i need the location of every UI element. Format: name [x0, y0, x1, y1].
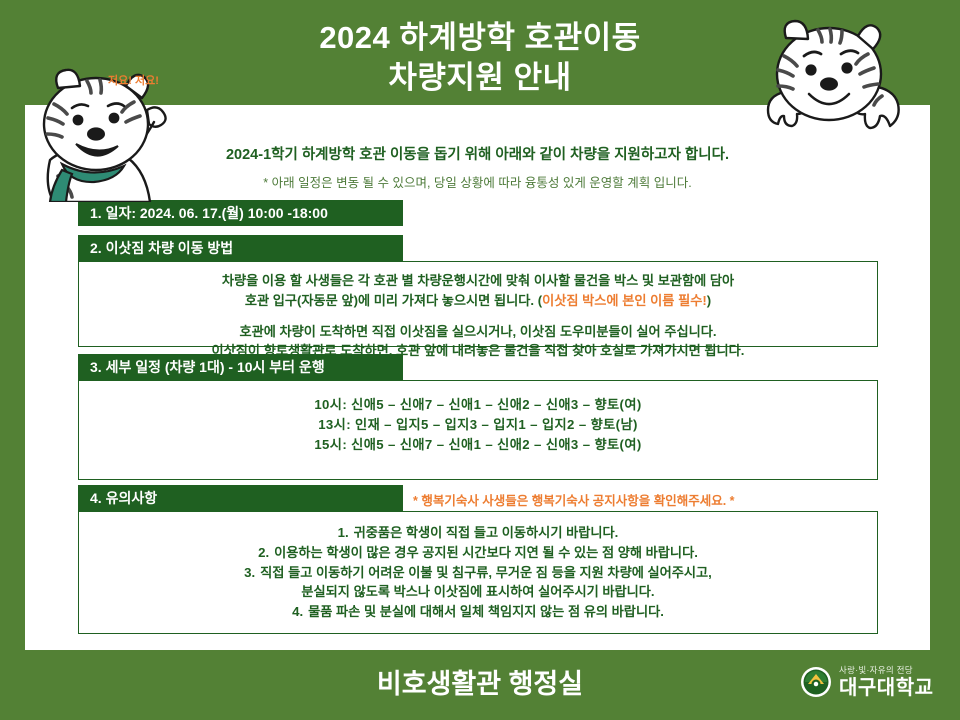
notice-item-4: 4.물품 파손 및 분실에 대해서 일체 책임지지 않는 점 유의 바랍니다.: [89, 602, 867, 622]
section-header-method: 2. 이삿짐 차량 이동 방법: [78, 235, 403, 261]
notice-item-2-number: 2.: [258, 545, 269, 560]
notice-item-1-text: 귀중품은 학생이 직접 들고 이동하시기 바랍니다.: [354, 525, 619, 540]
method-paragraph-2-line-1: 호관에 차량이 도착하면 직접 이삿짐을 실으시거나, 이삿짐 도우미분들이 실…: [89, 322, 867, 342]
section-body-notice: 1.귀중품은 학생이 직접 들고 이동하시기 바랍니다. 2.이용하는 학생이 …: [78, 511, 878, 634]
section-header-date: 1. 일자: 2024. 06. 17.(월) 10:00 -18:00: [78, 200, 403, 226]
notice-item-1-number: 1.: [338, 525, 349, 540]
section-header-notice: 4. 유의사항: [78, 485, 403, 511]
method-paragraph-gap: [89, 311, 867, 322]
intro-line-2: * 아래 일정은 변동 될 수 있으며, 당일 상황에 따라 융통성 있게 운영…: [25, 172, 930, 191]
university-name: 대구대학교: [839, 678, 934, 698]
schedule-route-1: 10시: 신애5 – 신애7 – 신애1 – 신애2 – 신애3 – 향토(여): [89, 395, 867, 415]
intro-line-1: 2024-1학기 하계방학 호관 이동을 돕기 위해 아래와 같이 차량을 지원…: [25, 143, 930, 164]
notice-item-3: 3.직접 들고 이동하기 어려운 이불 및 침구류, 무거운 짐 등을 지원 차…: [89, 563, 867, 583]
notice-item-3-subtext: 분실되지 않도록 박스나 이삿짐에 표시하여 실어주시기 바랍니다.: [89, 582, 867, 602]
notice-item-4-number: 4.: [292, 604, 303, 619]
notice-item-4-text: 물품 파손 및 분실에 대해서 일체 책임지지 않는 점 유의 바랍니다.: [308, 604, 664, 619]
section-body-method: 차량을 이용 할 사생들은 각 호관 별 차량운행시간에 맞춰 이사할 물건을 …: [78, 261, 878, 347]
method-paragraph-1-line-1: 차량을 이용 할 사생들은 각 호관 별 차량운행시간에 맞춰 이사할 물건을 …: [89, 271, 867, 291]
notice-item-3-text: 직접 들고 이동하기 어려운 이불 및 침구류, 무거운 짐 등을 지원 차량에…: [260, 565, 712, 580]
schedule-route-2: 13시: 인재 – 입지5 – 입지3 – 입지1 – 입지2 – 향토(남): [89, 415, 867, 435]
notice-item-2-text: 이용하는 학생이 많은 경우 공지된 시간보다 지연 될 수 있는 점 양해 바…: [274, 545, 698, 560]
university-text: 사랑·빛·자유의 전당 대구대학교: [839, 666, 934, 698]
mascot-speech-text: 저요! 저요!: [108, 72, 159, 88]
section-header-schedule: 3. 세부 일정 (차량 1대) - 10시 부터 운행: [78, 354, 403, 380]
university-emblem-icon: [800, 666, 832, 698]
method-p1-l2-post: ): [707, 293, 711, 308]
method-paragraph-1-line-2: 호관 입구(자동문 앞)에 미리 가져다 놓으시면 됩니다. (이삿짐 박스에 …: [89, 291, 867, 311]
university-logo: 사랑·빛·자유의 전당 대구대학교: [800, 666, 934, 698]
title-line-1: 2024 하계방학 호관이동: [319, 20, 640, 55]
content-card: 2024-1학기 하계방학 호관 이동을 돕기 위해 아래와 같이 차량을 지원…: [25, 105, 930, 650]
section-body-schedule: 10시: 신애5 – 신애7 – 신애1 – 신애2 – 신애3 – 향토(여)…: [78, 380, 878, 480]
notice-item-1: 1.귀중품은 학생이 직접 들고 이동하시기 바랍니다.: [89, 523, 867, 543]
notice-item-3-number: 3.: [244, 565, 255, 580]
schedule-route-3: 15시: 신애5 – 신애7 – 신애1 – 신애2 – 신애3 – 향토(여): [89, 435, 867, 455]
university-tagline: 사랑·빛·자유의 전당: [839, 666, 934, 675]
notice-item-2: 2.이용하는 학생이 많은 경우 공지된 시간보다 지연 될 수 있는 점 양해…: [89, 543, 867, 563]
method-p1-l2-pre: 호관 입구(자동문 앞)에 미리 가져다 놓으시면 됩니다. (: [245, 293, 542, 308]
poster-root: 2024 하계방학 호관이동 차량지원 안내 저요! 저요!: [0, 0, 960, 720]
method-p1-l2-accent: 이삿짐 박스에 본인 이름 필수!: [542, 293, 707, 308]
section-header-notice-note: * 행복기숙사 사생들은 행복기숙사 공지사항을 확인해주세요. *: [413, 490, 735, 509]
